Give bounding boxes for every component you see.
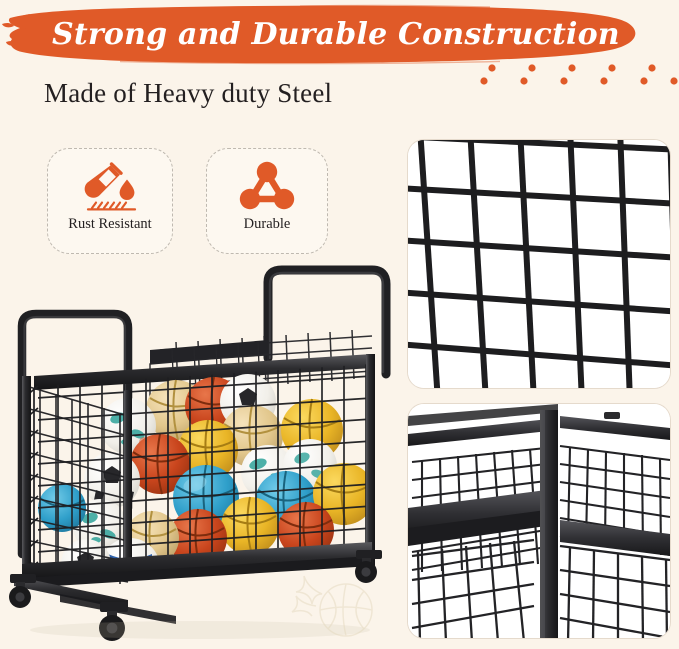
feature-badge-rust-resistant[interactable]: Rust Resistant <box>47 148 173 254</box>
feature-badge-label: Durable <box>244 216 291 233</box>
molecule-triangle-icon <box>236 160 298 214</box>
feature-badge-label: Rust Resistant <box>68 216 151 233</box>
flaming-basketball-watermark <box>282 572 392 644</box>
infographic-page: Strong and Durable Construction Made of … <box>0 0 679 649</box>
feature-badge-durable[interactable]: Durable <box>206 148 328 254</box>
panel-mesh-closeup <box>408 140 670 388</box>
page-title: Strong and Durable Construction <box>52 14 632 56</box>
test-tube-droplet-icon <box>77 160 143 214</box>
orange-dots-pattern <box>478 62 678 92</box>
page-subtitle: Made of Heavy duty Steel <box>44 78 332 109</box>
panel-frame-corner <box>408 404 670 638</box>
